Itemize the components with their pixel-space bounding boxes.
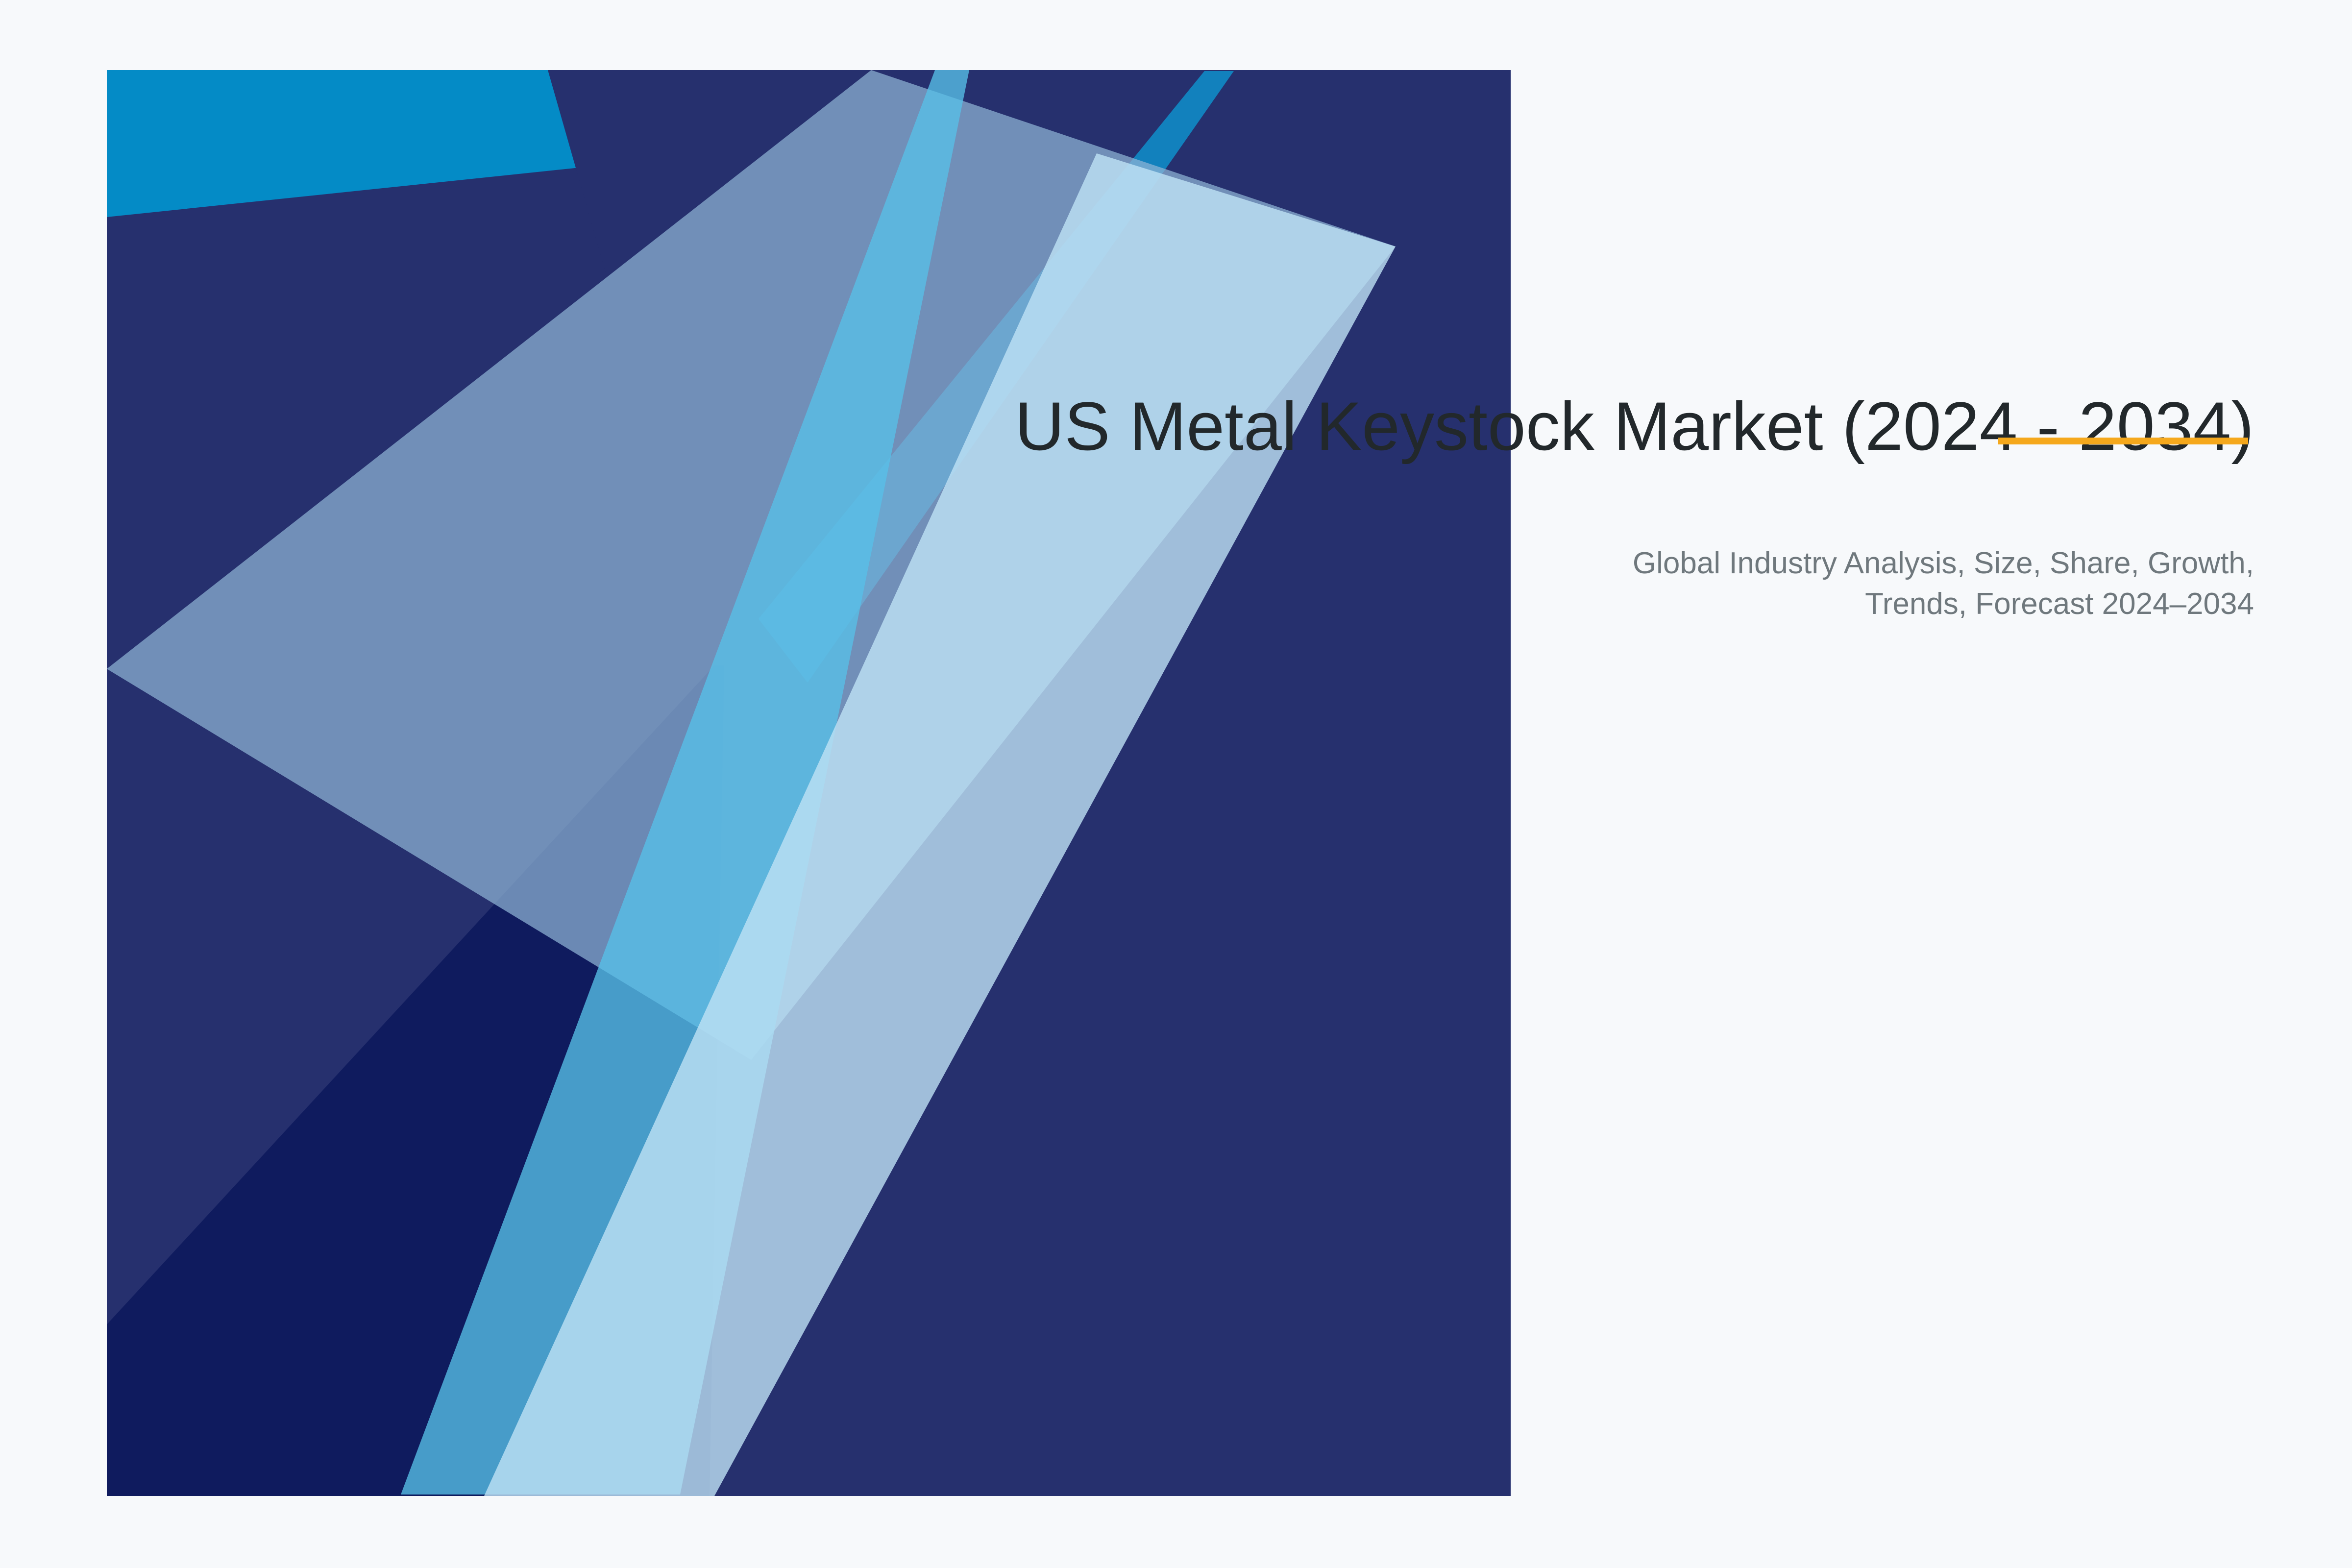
page-title: US Metal Keystock Market (2024 - 2034) — [1000, 382, 2254, 470]
cover-slide: US Metal Keystock Market (2024 - 2034) G… — [0, 0, 2352, 1568]
title-wrap: US Metal Keystock Market (2024 - 2034) — [1000, 382, 2254, 470]
page-subtitle: Global Industry Analysis, Size, Share, G… — [1000, 543, 2254, 624]
title-underline-accent — [1998, 438, 2248, 444]
cover-text-block: US Metal Keystock Market (2024 - 2034) G… — [1000, 382, 2254, 624]
abstract-geometric-cover-graphic — [107, 70, 1511, 1496]
